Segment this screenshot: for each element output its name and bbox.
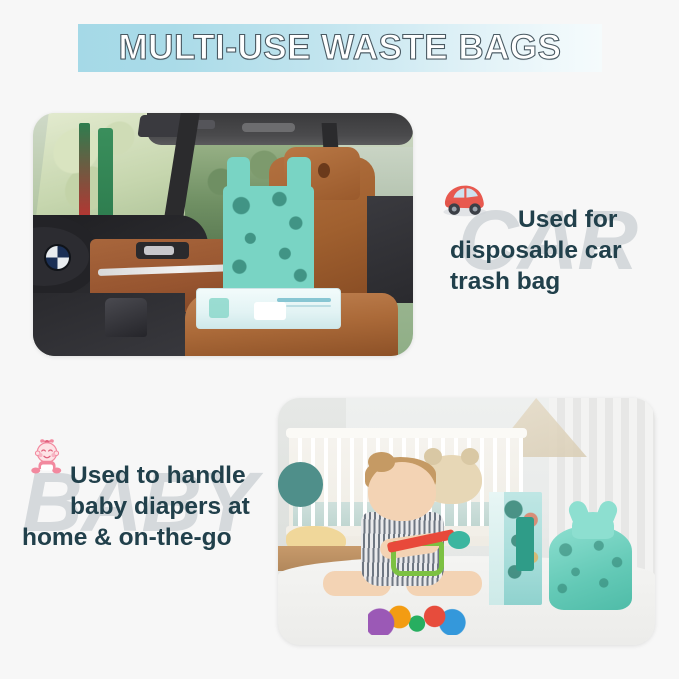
- baby-icon: [24, 436, 70, 478]
- car-interior-photo: [33, 113, 413, 356]
- baby-text-line-1: Used to handle: [70, 460, 246, 492]
- car-text-line-1: Used for: [518, 204, 617, 236]
- toy-knob: [448, 531, 471, 548]
- bmw-logo-icon: [44, 244, 71, 271]
- product-box-spine: [489, 492, 504, 606]
- car-text-line-2: disposable car: [450, 235, 622, 267]
- rear-seat: [367, 196, 413, 303]
- car-text-line-3: trash bag: [450, 266, 560, 298]
- car-photo-scene: [33, 113, 413, 356]
- baby-text-line-3: home & on-the-go: [22, 522, 232, 554]
- floor-toys: [368, 605, 466, 635]
- door-handle: [136, 242, 189, 259]
- product-box-bag-illustration: [516, 517, 535, 571]
- hanging-ornament: [79, 123, 90, 225]
- baby-text-line-2: baby diapers at: [70, 491, 250, 523]
- box-logo-mark: [209, 298, 229, 318]
- car-icon: [442, 178, 488, 220]
- page-title: MULTI-USE WASTE BAGS: [78, 24, 602, 72]
- box-illustration: [254, 302, 285, 319]
- hanging-ornament-2: [98, 128, 113, 220]
- tied-bag-pattern: [549, 536, 632, 605]
- grab-handle: [242, 123, 295, 133]
- plush-toy-teal: [278, 462, 323, 506]
- bag-paw-pattern: [223, 186, 314, 295]
- feature-baby: BABY Used to handle baby diapers at home…: [14, 432, 279, 557]
- infographic-page: MULTI-USE WASTE BAGS: [0, 0, 679, 679]
- feature-car: CAR Used for disposable car trash bag: [440, 180, 679, 305]
- box-label-text: [277, 298, 331, 302]
- box-sublabel-text: [286, 305, 332, 308]
- baby-nursery-photo: [278, 398, 655, 645]
- crib-top-rail: [286, 428, 527, 438]
- mint-waste-bag: [223, 186, 314, 295]
- gear-shifter: [105, 298, 147, 337]
- product-box: [196, 288, 340, 329]
- baby-photo-scene: [278, 398, 655, 645]
- bag-knot: [572, 512, 613, 539]
- baby-hair-tuft: [368, 452, 394, 472]
